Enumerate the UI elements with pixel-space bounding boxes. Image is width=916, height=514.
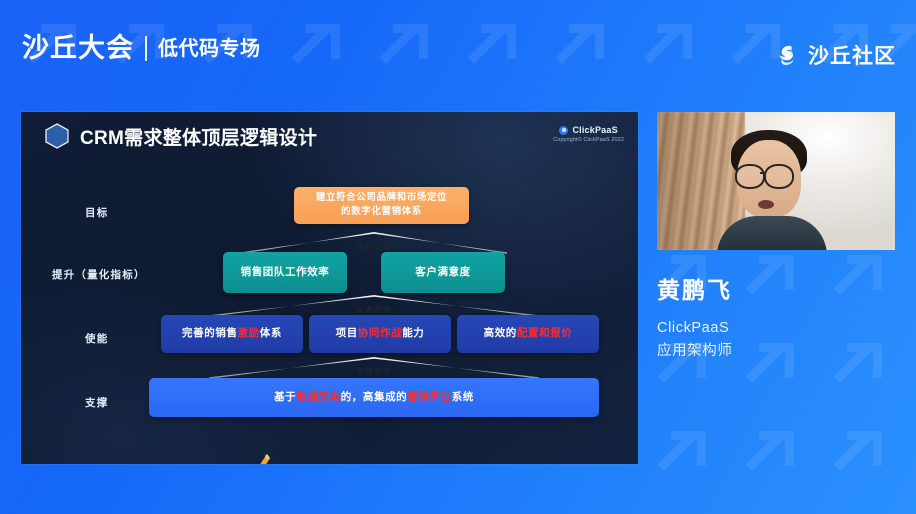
speaker-glasses-left [735,164,765,189]
enable-box-2-text: 项目协同作战能力 [336,326,425,341]
diagonal-arrow-icon [836,431,882,477]
enable-box-1[interactable]: 完善的销售激励体系 [161,315,303,353]
vendor-logo-name: ClickPaaS [572,125,617,135]
kpi-box-2-text: 客户满意度 [415,265,471,280]
community-logo: 沙丘社区 [775,40,896,70]
enable-box-3-text: 高效的配置和报价 [484,326,573,341]
enable-box-1-text: 完善的销售激励体系 [182,326,282,341]
goal-box[interactable]: 建立符合公司品牌和市场定位 的数字化营销体系 [294,187,469,224]
enable-box-2[interactable]: 项目协同作战能力 [309,315,451,353]
clickpaas-circle-icon [559,126,568,135]
speaker-mouth [758,200,774,209]
speaker-glasses-bridge [760,172,766,174]
speaker-info: 黄鹏飞 ClickPaaS 应用架构师 [657,278,733,362]
event-subtitle: 低代码专场 [158,39,261,59]
event-brand: 沙丘大会 低代码专场 [22,35,261,62]
slide-header: CRM需求整体顶层逻辑设计 [44,122,317,150]
row-label-support: 支撑 [85,395,108,410]
slide-title: CRM需求整体顶层逻辑设计 [80,123,317,150]
support-box[interactable]: 基于敏捷架构的，高集成的营销平台系统 [149,378,599,417]
community-logo-label: 沙丘社区 [808,40,896,70]
speaker-glasses-right [764,164,794,189]
diagonal-arrow-icon [660,431,706,477]
support-box-text: 基于敏捷架构的，高集成的营销平台系统 [274,390,474,405]
event-title: 沙丘大会 [22,35,134,62]
chevron-promote-improve-label: 促进改善 [209,304,539,315]
diagonal-arrow-icon [748,431,794,477]
brand-divider [145,36,147,61]
row-label-enable: 使能 [85,331,108,346]
speaker-company: ClickPaaS [657,317,733,339]
kpi-box-1-text: 销售团队工作效率 [241,265,330,280]
sandhill-s-logo-icon [775,43,800,68]
speaker-webcam-video[interactable] [657,112,895,250]
page-header: 沙丘大会 低代码专场 沙丘社区 [0,0,916,100]
speaker-name: 黄鹏飞 [657,278,733,303]
chevron-system-support-label: 系统支撑 [209,366,539,377]
highlighter-pen-cursor [255,453,271,464]
speaker-role: 应用架构师 [657,340,733,362]
diagonal-arrow-icon [748,343,794,389]
chevron-promote-improve: 促进改善 [209,295,539,317]
vendor-logo: ClickPaaS Copyright© ClickPaaS 2022 [553,125,624,143]
diagonal-arrow-icon [836,255,882,301]
goal-box-text: 建立符合公司品牌和市场定位 的数字化营销体系 [316,192,447,220]
kpi-box-2[interactable]: 客户满意度 [381,252,505,293]
row-label-goal: 目标 [85,205,108,220]
enable-box-3[interactable]: 高效的配置和报价 [457,315,599,353]
diagonal-arrow-icon [748,255,794,301]
presentation-stage: 沙丘大会 低代码专场 沙丘社区 CRM需求整体顶层逻辑设计 [0,0,916,514]
vendor-copyright: Copyright© ClickPaaS 2022 [553,137,624,143]
kpi-box-1[interactable]: 销售团队工作效率 [223,252,347,293]
chevron-goal-achieved-label: 目标达成 [241,241,507,252]
diagonal-arrow-icon [836,343,882,389]
chevron-goal-achieved: 目标达成 [241,232,507,254]
hexagon-icon [44,122,70,150]
slide-canvas[interactable]: CRM需求整体顶层逻辑设计 ClickPaaS Copyright© Click… [21,112,638,464]
row-label-kpi: 提升（量化指标） [52,267,146,282]
chevron-system-support: 系统支撑 [209,357,539,379]
